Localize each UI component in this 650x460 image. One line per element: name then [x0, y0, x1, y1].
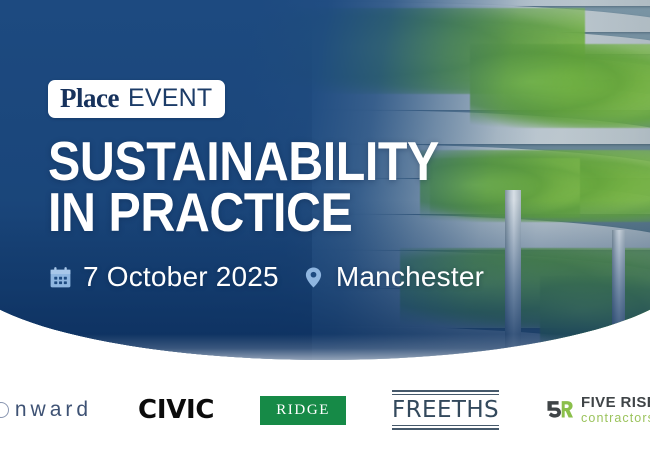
hero-content: Place EVENT SUSTAINABILITY IN PRACTICE — [48, 80, 608, 291]
map-pin-icon — [301, 265, 326, 290]
page-title: SUSTAINABILITY IN PRACTICE — [48, 136, 541, 237]
sponsor-ridge[interactable]: RIDGE — [260, 396, 346, 425]
sponsor-five-rise[interactable]: FIVE RISE contractors — [545, 395, 650, 425]
civic-wordmark: CIVIC — [138, 395, 214, 425]
event-meta: 7 October 2025 Manchester — [48, 263, 608, 291]
event-date: 7 October 2025 — [48, 263, 279, 291]
onward-circle-icon — [0, 402, 9, 418]
sponsor-onward[interactable]: nward — [0, 398, 92, 422]
ridge-wordmark: RIDGE — [260, 396, 346, 425]
calendar-icon — [48, 265, 73, 290]
place-event-badge: Place EVENT — [48, 80, 225, 118]
sponsor-logo-bar: nward CIVIC RIDGE FREETHS — [0, 360, 650, 460]
place-brand-wordmark: Place — [60, 85, 119, 112]
event-location: Manchester — [301, 263, 484, 291]
five-rise-5r-icon — [545, 398, 573, 422]
event-promo-poster: Place EVENT SUSTAINABILITY IN PRACTICE — [0, 0, 650, 460]
freeths-rule-bottom-thin — [392, 425, 499, 426]
five-rise-wordmark: FIVE RISE — [581, 395, 650, 410]
freeths-rule-bottom — [392, 428, 499, 430]
event-label: EVENT — [128, 86, 212, 111]
sponsor-civic[interactable]: CIVIC — [138, 395, 214, 425]
sponsor-freeths[interactable]: FREETHS — [392, 390, 499, 429]
freeths-wordmark: FREETHS — [392, 397, 499, 423]
headline-line-2: IN PRACTICE — [48, 187, 541, 238]
event-location-text: Manchester — [336, 263, 484, 291]
freeths-rule-top-thin — [392, 394, 499, 395]
freeths-rule-top — [392, 390, 499, 392]
five-rise-tagline: contractors — [581, 412, 650, 425]
onward-wordmark: nward — [15, 398, 92, 422]
event-date-text: 7 October 2025 — [83, 263, 279, 291]
hero-bottom-soft-edge — [0, 334, 650, 360]
